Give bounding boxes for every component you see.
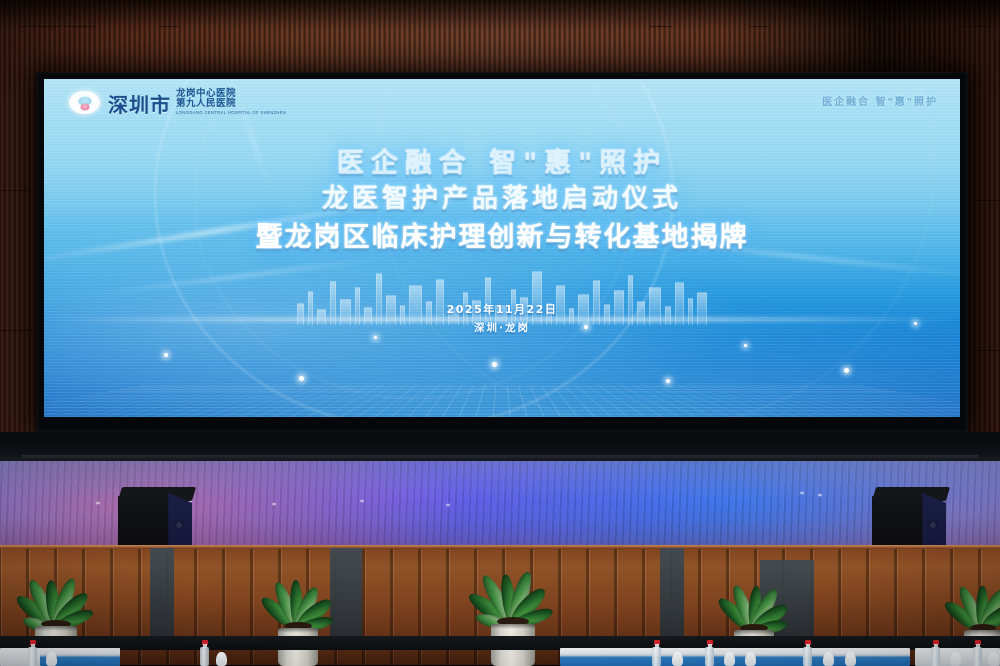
- water-cup: [845, 652, 856, 666]
- hospital-logo: 深圳市 龙岗中心医院 第九人民医院 LONGGANG CENTRAL HOSPI…: [68, 89, 286, 115]
- water-bottle: [28, 640, 37, 666]
- stage-side-panel: [150, 548, 174, 648]
- event-title-line1: 医企融合 智"惠"照护: [44, 147, 960, 181]
- wall-seam: [972, 200, 1000, 201]
- water-bottle: [200, 640, 209, 666]
- hospital-name-english: LONGGANG CENTRAL HOSPITAL OF SHENZHEN: [176, 111, 286, 116]
- wall-seam: [0, 330, 34, 331]
- wall-seam: [20, 26, 62, 27]
- wall-seam: [750, 26, 770, 27]
- event-title-block: 医企融合 智"惠"照护 龙医智护产品落地启动仪式 暨龙岗区临床护理创新与转化基地…: [44, 147, 960, 258]
- water-bottle: [652, 640, 661, 666]
- water-cup: [950, 652, 961, 666]
- hospital-name-line2: 第九人民医院: [176, 99, 286, 109]
- water-bottle: [973, 640, 982, 666]
- bottle-body: [28, 647, 37, 666]
- wall-seam: [160, 26, 178, 27]
- corner-slogan: 医企融合 智"惠"照护: [822, 93, 938, 108]
- wall-seam: [650, 26, 672, 27]
- water-bottle: [705, 640, 714, 666]
- bottle-body: [200, 647, 209, 666]
- conference-stage-scene: 深圳市 龙岗中心医院 第九人民医院 LONGGANG CENTRAL HOSPI…: [0, 0, 1000, 666]
- water-cup: [46, 652, 57, 666]
- water-cup: [823, 652, 834, 666]
- event-meta-block: 2025年11月22日 深圳·龙岗: [44, 301, 960, 335]
- floor-reflection: [360, 500, 364, 502]
- stage-side-panel: [660, 548, 684, 648]
- wall-seam: [0, 190, 30, 191]
- floor-reflection: [272, 503, 276, 505]
- water-bottle: [931, 640, 940, 666]
- hospital-city-name: 深圳市: [108, 95, 171, 115]
- wall-top-shadow: [0, 0, 1000, 30]
- wall-seam: [972, 350, 1000, 351]
- water-cup: [745, 652, 756, 666]
- led-screen: 深圳市 龙岗中心医院 第九人民医院 LONGGANG CENTRAL HOSPI…: [44, 79, 960, 417]
- front-table-center: [560, 648, 910, 666]
- bottle-body: [931, 647, 940, 666]
- water-cup: [216, 652, 227, 666]
- event-title-line2: 龙医智护产品落地启动仪式: [44, 181, 960, 219]
- front-tables-row: [0, 648, 1000, 666]
- event-title-line3: 暨龙岗区临床护理创新与转化基地揭牌: [44, 218, 960, 257]
- floor-reflection: [96, 502, 100, 504]
- wall-seam: [65, 26, 95, 27]
- hospital-emblem-icon: [68, 90, 101, 115]
- water-cup: [724, 652, 735, 666]
- water-cup: [672, 652, 683, 666]
- bottle-body: [705, 647, 714, 666]
- water-cup: [988, 652, 999, 666]
- bottle-body: [803, 647, 812, 666]
- wall-seam: [960, 26, 990, 27]
- floor-reflection: [446, 504, 450, 506]
- bottle-body: [973, 647, 982, 666]
- water-bottle: [803, 640, 812, 666]
- floor-reflection: [800, 492, 804, 494]
- floor-reflection: [818, 494, 822, 496]
- bottle-body: [652, 647, 661, 666]
- event-place: 深圳·龙岗: [44, 320, 960, 335]
- event-date: 2025年11月22日: [44, 301, 960, 317]
- hospital-logo-text: 深圳市 龙岗中心医院 第九人民医院 LONGGANG CENTRAL HOSPI…: [108, 89, 286, 115]
